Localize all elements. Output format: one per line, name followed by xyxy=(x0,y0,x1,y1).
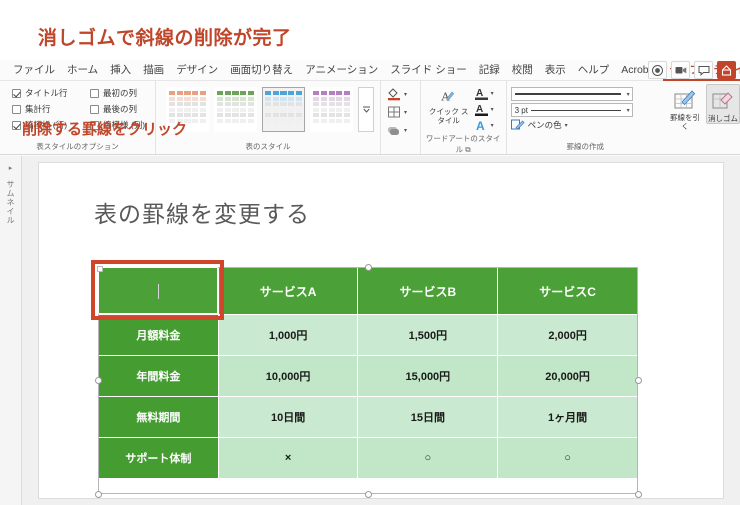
row-header-free-period[interactable]: 無料期間 xyxy=(99,397,219,438)
record-icon[interactable] xyxy=(648,61,667,79)
line-style-preview xyxy=(515,93,621,95)
table-style-gallery xyxy=(160,84,376,132)
group-wordart-styles: A クイック スタイル A ▾ A xyxy=(420,81,506,154)
checkbox-total-row[interactable]: 集計行 xyxy=(12,103,90,115)
tab-transitions[interactable]: 画面切り替え xyxy=(224,60,299,81)
table-cell[interactable]: 10,000円 xyxy=(218,356,358,397)
table-cell[interactable]: 15日間 xyxy=(358,397,498,438)
table-row[interactable]: 年間料金 10,000円 15,000円 20,000円 xyxy=(99,356,638,397)
table-header-cell-empty[interactable] xyxy=(99,268,219,315)
gallery-more-chevron-down-icon[interactable] xyxy=(358,87,374,132)
group-label-spacer3 xyxy=(706,152,736,153)
selection-handle-bottom-left[interactable] xyxy=(95,491,102,498)
shading-button[interactable]: ▾ xyxy=(385,86,416,102)
wordart-controls: A クイック スタイル A ▾ A xyxy=(425,84,502,133)
table-header-cell-service-c[interactable]: サービスC xyxy=(498,268,638,315)
tab-animations[interactable]: アニメーション xyxy=(299,60,384,81)
selection-handle-bottom-right[interactable] xyxy=(635,491,642,498)
borders-icon xyxy=(385,104,402,120)
shading-icon xyxy=(385,86,402,102)
tab-view[interactable]: 表示 xyxy=(539,60,572,81)
selection-handle-left-middle[interactable] xyxy=(95,377,102,384)
quick-style-button[interactable]: A クイック スタイル xyxy=(427,86,471,125)
chevron-down-icon[interactable]: ▾ xyxy=(491,106,494,113)
thumbnail-pane[interactable]: ▸ サムネイル xyxy=(0,156,22,505)
dialog-launcher-icon[interactable]: ⧉ xyxy=(465,145,470,154)
borders-button[interactable]: ▾ xyxy=(385,104,416,120)
selection-handle-top-center[interactable] xyxy=(365,264,372,271)
draw-border-controls: ▾ 3 pt ▾ ペンの色 ▾ xyxy=(511,84,660,131)
table-cell[interactable]: 1,000円 xyxy=(218,315,358,356)
tab-help[interactable]: ヘルプ xyxy=(572,60,616,81)
group-label-spacer2 xyxy=(668,152,698,153)
checkbox-label: 最後の列 xyxy=(103,103,137,115)
text-outline-button[interactable]: A ▾ xyxy=(474,102,494,117)
powerpoint-window: 消しゴムで斜線の削除が完了 ファイル ホーム 挿入 描画 デザイン 画面切り替え… xyxy=(0,0,740,505)
selection-handle-bottom-center[interactable] xyxy=(365,491,372,498)
group-label-style-options: 表スタイルのオプション xyxy=(4,141,151,153)
effects-button[interactable]: ▾ xyxy=(385,122,416,138)
text-cursor xyxy=(158,284,159,299)
table-cell[interactable]: 1ヶ月間 xyxy=(498,397,638,438)
annotation-ribbon-note: 削除する罫線をクリック xyxy=(22,118,187,139)
chevron-down-icon[interactable]: ▾ xyxy=(404,91,407,98)
line-style-dropdown[interactable]: ▾ xyxy=(511,87,633,101)
line-weight-preview xyxy=(531,110,621,111)
draw-table-icon xyxy=(673,87,697,113)
group-label-spacer xyxy=(385,152,416,153)
tab-insert[interactable]: 挿入 xyxy=(104,60,137,81)
chevron-down-icon[interactable]: ▾ xyxy=(491,122,494,129)
draw-table-label: 罫線を引く xyxy=(668,113,702,131)
group-draw-borders: ▾ 3 pt ▾ ペンの色 ▾ 罫線の作成 xyxy=(506,81,664,154)
table-row[interactable]: 月額料金 1,000円 1,500円 2,000円 xyxy=(99,315,638,356)
shading-controls: ▾ ▾ ▾ xyxy=(385,84,416,138)
ribbon: ファイル ホーム 挿入 描画 デザイン 画面切り替え アニメーション スライド … xyxy=(0,60,740,156)
text-fill-button[interactable]: A ▾ xyxy=(474,86,494,101)
text-outline-icon: A xyxy=(474,102,490,117)
chevron-down-icon[interactable]: ▾ xyxy=(404,109,407,116)
workspace: ▸ サムネイル 表の罫線を変更する サービスA サービスB サービスC 月額料金… xyxy=(0,156,740,505)
pen-color-icon xyxy=(511,119,525,131)
checkbox-label: タイトル行 xyxy=(25,87,68,99)
checkbox-box xyxy=(12,105,21,114)
group-label-wordart-text: ワードアートのスタイル xyxy=(426,134,501,154)
text-effects-button[interactable]: A ▾ xyxy=(474,118,494,133)
pen-color-label: ペンの色 xyxy=(528,119,562,131)
table-cell[interactable]: 2,000円 xyxy=(498,315,638,356)
checkbox-box xyxy=(12,121,21,130)
effects-icon xyxy=(385,122,402,138)
table-row[interactable]: サポート体制 × ○ ○ xyxy=(99,438,638,479)
group-label-table-styles: 表のスタイル xyxy=(160,141,376,153)
share-icon[interactable] xyxy=(717,61,736,79)
group-label-draw-borders: 罫線の作成 xyxy=(511,141,660,153)
checkbox-label: 最初の列 xyxy=(103,87,137,99)
pen-color-button[interactable]: ペンの色 ▾ xyxy=(511,119,660,131)
tab-home[interactable]: ホーム xyxy=(61,60,104,81)
chevron-down-icon[interactable]: ▾ xyxy=(404,127,407,134)
ribbon-tabs: ファイル ホーム 挿入 描画 デザイン 画面切り替え アニメーション スライド … xyxy=(0,60,740,81)
table-header-cell-service-b[interactable]: サービスB xyxy=(358,268,498,315)
ribbon-right-icons xyxy=(648,61,736,79)
group-draw-table: 罫線を引く xyxy=(664,81,702,154)
table-row[interactable]: 無料期間 10日間 15日間 1ヶ月間 xyxy=(99,397,638,438)
slide-table[interactable]: サービスA サービスB サービスC 月額料金 1,000円 1,500円 2,0… xyxy=(98,267,638,479)
row-header-monthly-fee[interactable]: 月額料金 xyxy=(99,315,219,356)
tab-draw[interactable]: 描画 xyxy=(137,60,170,81)
table-style-thumb-green[interactable] xyxy=(214,87,257,132)
tab-design[interactable]: デザイン xyxy=(170,60,224,81)
table-cell[interactable]: 15,000円 xyxy=(358,356,498,397)
line-weight-dropdown[interactable]: 3 pt ▾ xyxy=(511,103,633,117)
chevron-down-icon[interactable]: ▾ xyxy=(565,122,568,129)
present-icon[interactable] xyxy=(671,61,690,79)
table-cell[interactable]: 10日間 xyxy=(218,397,358,438)
eraser-label: 消しゴム xyxy=(708,114,738,123)
quick-style-label: クイック スタイル xyxy=(427,107,471,125)
wordart-icon-column: A ▾ A ▾ A xyxy=(474,86,494,133)
row-header-annual-fee[interactable]: 年間料金 xyxy=(99,356,219,397)
table-style-thumb-blue-selected[interactable] xyxy=(262,87,305,132)
expand-chevron-icon[interactable]: ▸ xyxy=(9,164,13,172)
group-table-styles: 表のスタイル xyxy=(155,81,380,154)
selection-handle-right-middle[interactable] xyxy=(635,377,642,384)
tab-slideshow[interactable]: スライド ショー xyxy=(384,60,472,81)
group-shading-borders-effects: ▾ ▾ ▾ xyxy=(380,81,420,154)
text-fill-icon: A xyxy=(474,86,490,101)
table-style-thumb-purple[interactable] xyxy=(310,87,353,132)
chevron-down-icon[interactable]: ▾ xyxy=(491,90,494,97)
thumbnail-pane-label: サムネイル xyxy=(5,180,16,225)
annotation-title: 消しゴムで斜線の削除が完了 xyxy=(38,23,292,50)
group-label-wordart: ワードアートのスタイル ⧉ xyxy=(425,133,502,156)
checkbox-header-row[interactable]: タイトル行 xyxy=(12,87,90,99)
chevron-down-icon[interactable]: ▾ xyxy=(627,91,630,98)
checkbox-box xyxy=(90,105,99,114)
tab-review[interactable]: 校閲 xyxy=(506,60,539,81)
table-cell[interactable]: × xyxy=(218,438,358,479)
ribbon-tab-bar: ファイル ホーム 挿入 描画 デザイン 画面切り替え アニメーション スライド … xyxy=(0,60,740,81)
table-cell[interactable]: ○ xyxy=(358,438,498,479)
table-header-row[interactable]: サービスA サービスB サービスC xyxy=(99,268,638,315)
line-weight-value: 3 pt xyxy=(515,106,528,115)
eraser-button[interactable]: 消しゴム xyxy=(706,84,740,124)
svg-text:A: A xyxy=(476,104,483,115)
table-cell[interactable]: ○ xyxy=(498,438,638,479)
comment-icon[interactable] xyxy=(694,61,713,79)
table-header-cell-service-a[interactable]: サービスA xyxy=(218,268,358,315)
eraser-icon xyxy=(711,88,735,114)
checkbox-box xyxy=(12,89,21,98)
table-cell[interactable]: 20,000円 xyxy=(498,356,638,397)
checkbox-label: 集計行 xyxy=(25,103,51,115)
row-header-support[interactable]: サポート体制 xyxy=(99,438,219,479)
quick-style-icon: A xyxy=(440,86,457,107)
chevron-down-icon[interactable]: ▾ xyxy=(627,107,630,114)
tab-file[interactable]: ファイル xyxy=(7,60,61,81)
slide-title[interactable]: 表の罫線を変更する xyxy=(94,195,310,229)
text-effects-icon: A xyxy=(474,118,490,133)
checkbox-box xyxy=(90,89,99,98)
draw-table-button[interactable]: 罫線を引く xyxy=(668,84,702,131)
svg-text:A: A xyxy=(476,119,485,133)
slide-canvas[interactable]: 表の罫線を変更する サービスA サービスB サービスC 月額料金 1,000円 … xyxy=(38,162,724,499)
table-cell[interactable]: 1,500円 xyxy=(358,315,498,356)
group-eraser: 消しゴム xyxy=(702,81,740,154)
tab-record[interactable]: 記録 xyxy=(473,60,506,81)
svg-text:A: A xyxy=(476,88,483,99)
